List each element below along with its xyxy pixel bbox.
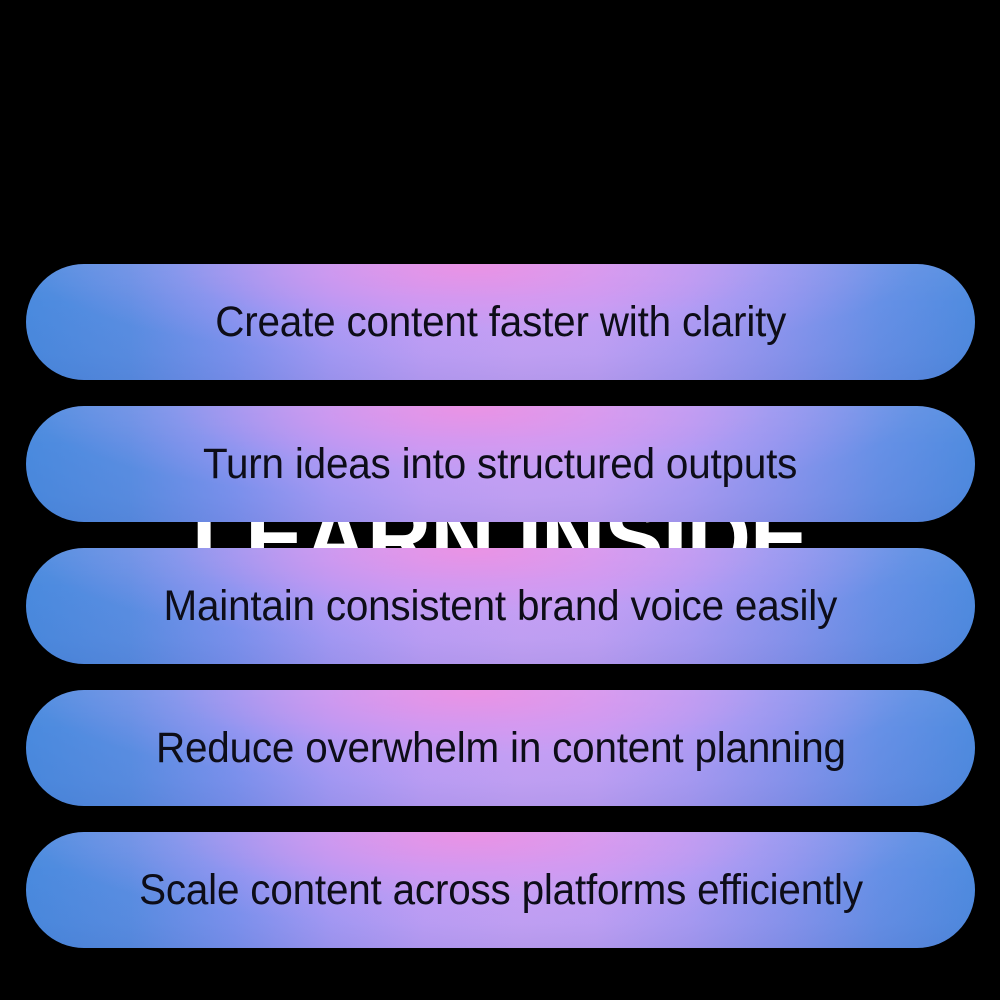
benefit-pill-label: Turn ideas into structured outputs [203,443,797,486]
benefit-pill-3[interactable]: Maintain consistent brand voice easily [26,548,975,664]
benefit-pill-2[interactable]: Turn ideas into structured outputs [26,406,975,522]
benefit-pill-1[interactable]: Create content faster with clarity [26,264,975,380]
benefit-pill-label: Scale content across platforms efficient… [139,869,863,912]
benefit-pill-label: Reduce overwhelm in content planning [156,727,846,770]
benefit-pill-label: Maintain consistent brand voice easily [164,585,838,628]
benefits-poster: WHAT YOU’LL LEARN INSIDE Create content … [0,0,1000,1000]
benefit-pill-list: Create content faster with clarity Turn … [26,264,975,974]
benefit-pill-4[interactable]: Reduce overwhelm in content planning [26,690,975,806]
benefit-pill-5[interactable]: Scale content across platforms efficient… [26,832,975,948]
benefit-pill-label: Create content faster with clarity [215,301,786,344]
